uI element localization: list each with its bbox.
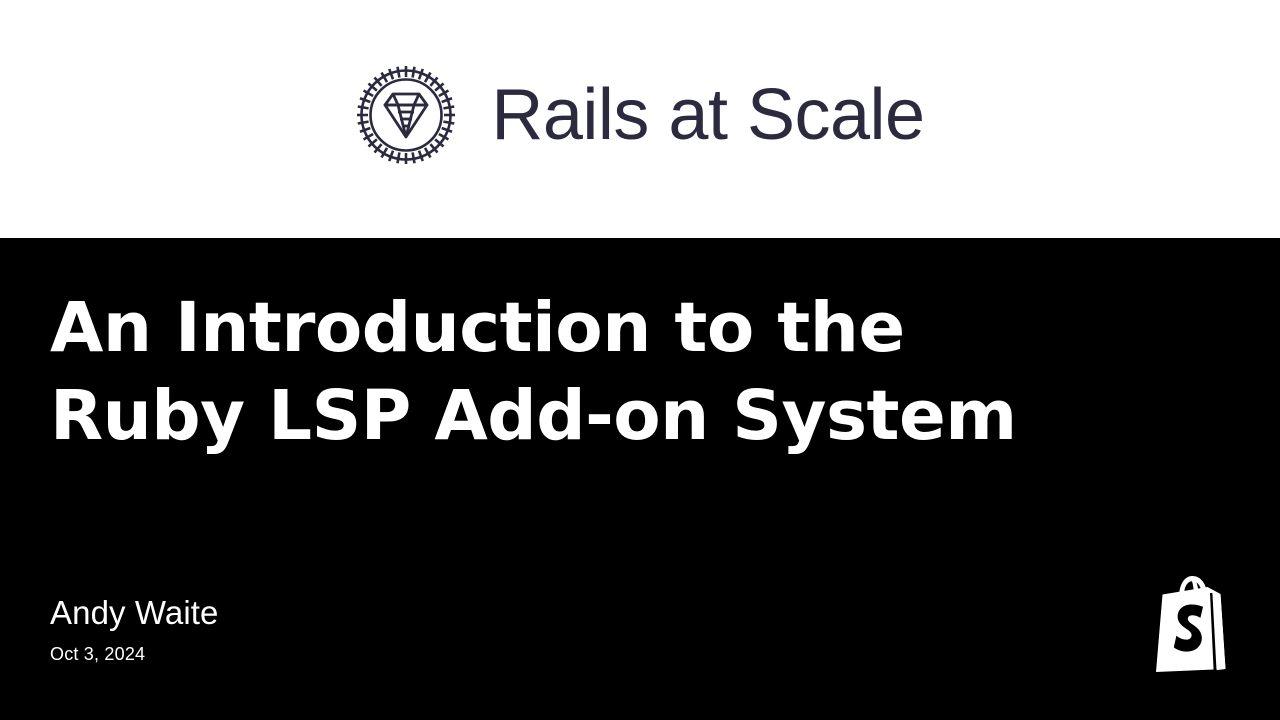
page-title-line-1: An Introduction to the: [50, 284, 1190, 372]
page-title-line-2: Ruby LSP Add-on System: [50, 372, 1190, 460]
ruby-gem-in-railway-track-circle-icon: [355, 64, 457, 166]
presenter-name: Andy Waite: [50, 594, 750, 632]
shopify-bag-icon: [1150, 573, 1236, 673]
brand-name: Rails at Scale: [491, 79, 924, 151]
brand-lockup: Rails at Scale: [355, 64, 924, 166]
slide-body: An Introduction to the Ruby LSP Add-on S…: [0, 238, 1280, 720]
slide-header-band: Rails at Scale: [0, 0, 1280, 238]
presentation-slide: Rails at Scale An Introduction to the Ru…: [0, 0, 1280, 720]
byline: Andy Waite Oct 3, 2024: [50, 594, 750, 665]
page-title: An Introduction to the Ruby LSP Add-on S…: [50, 284, 1190, 461]
presentation-date: Oct 3, 2024: [50, 645, 750, 665]
